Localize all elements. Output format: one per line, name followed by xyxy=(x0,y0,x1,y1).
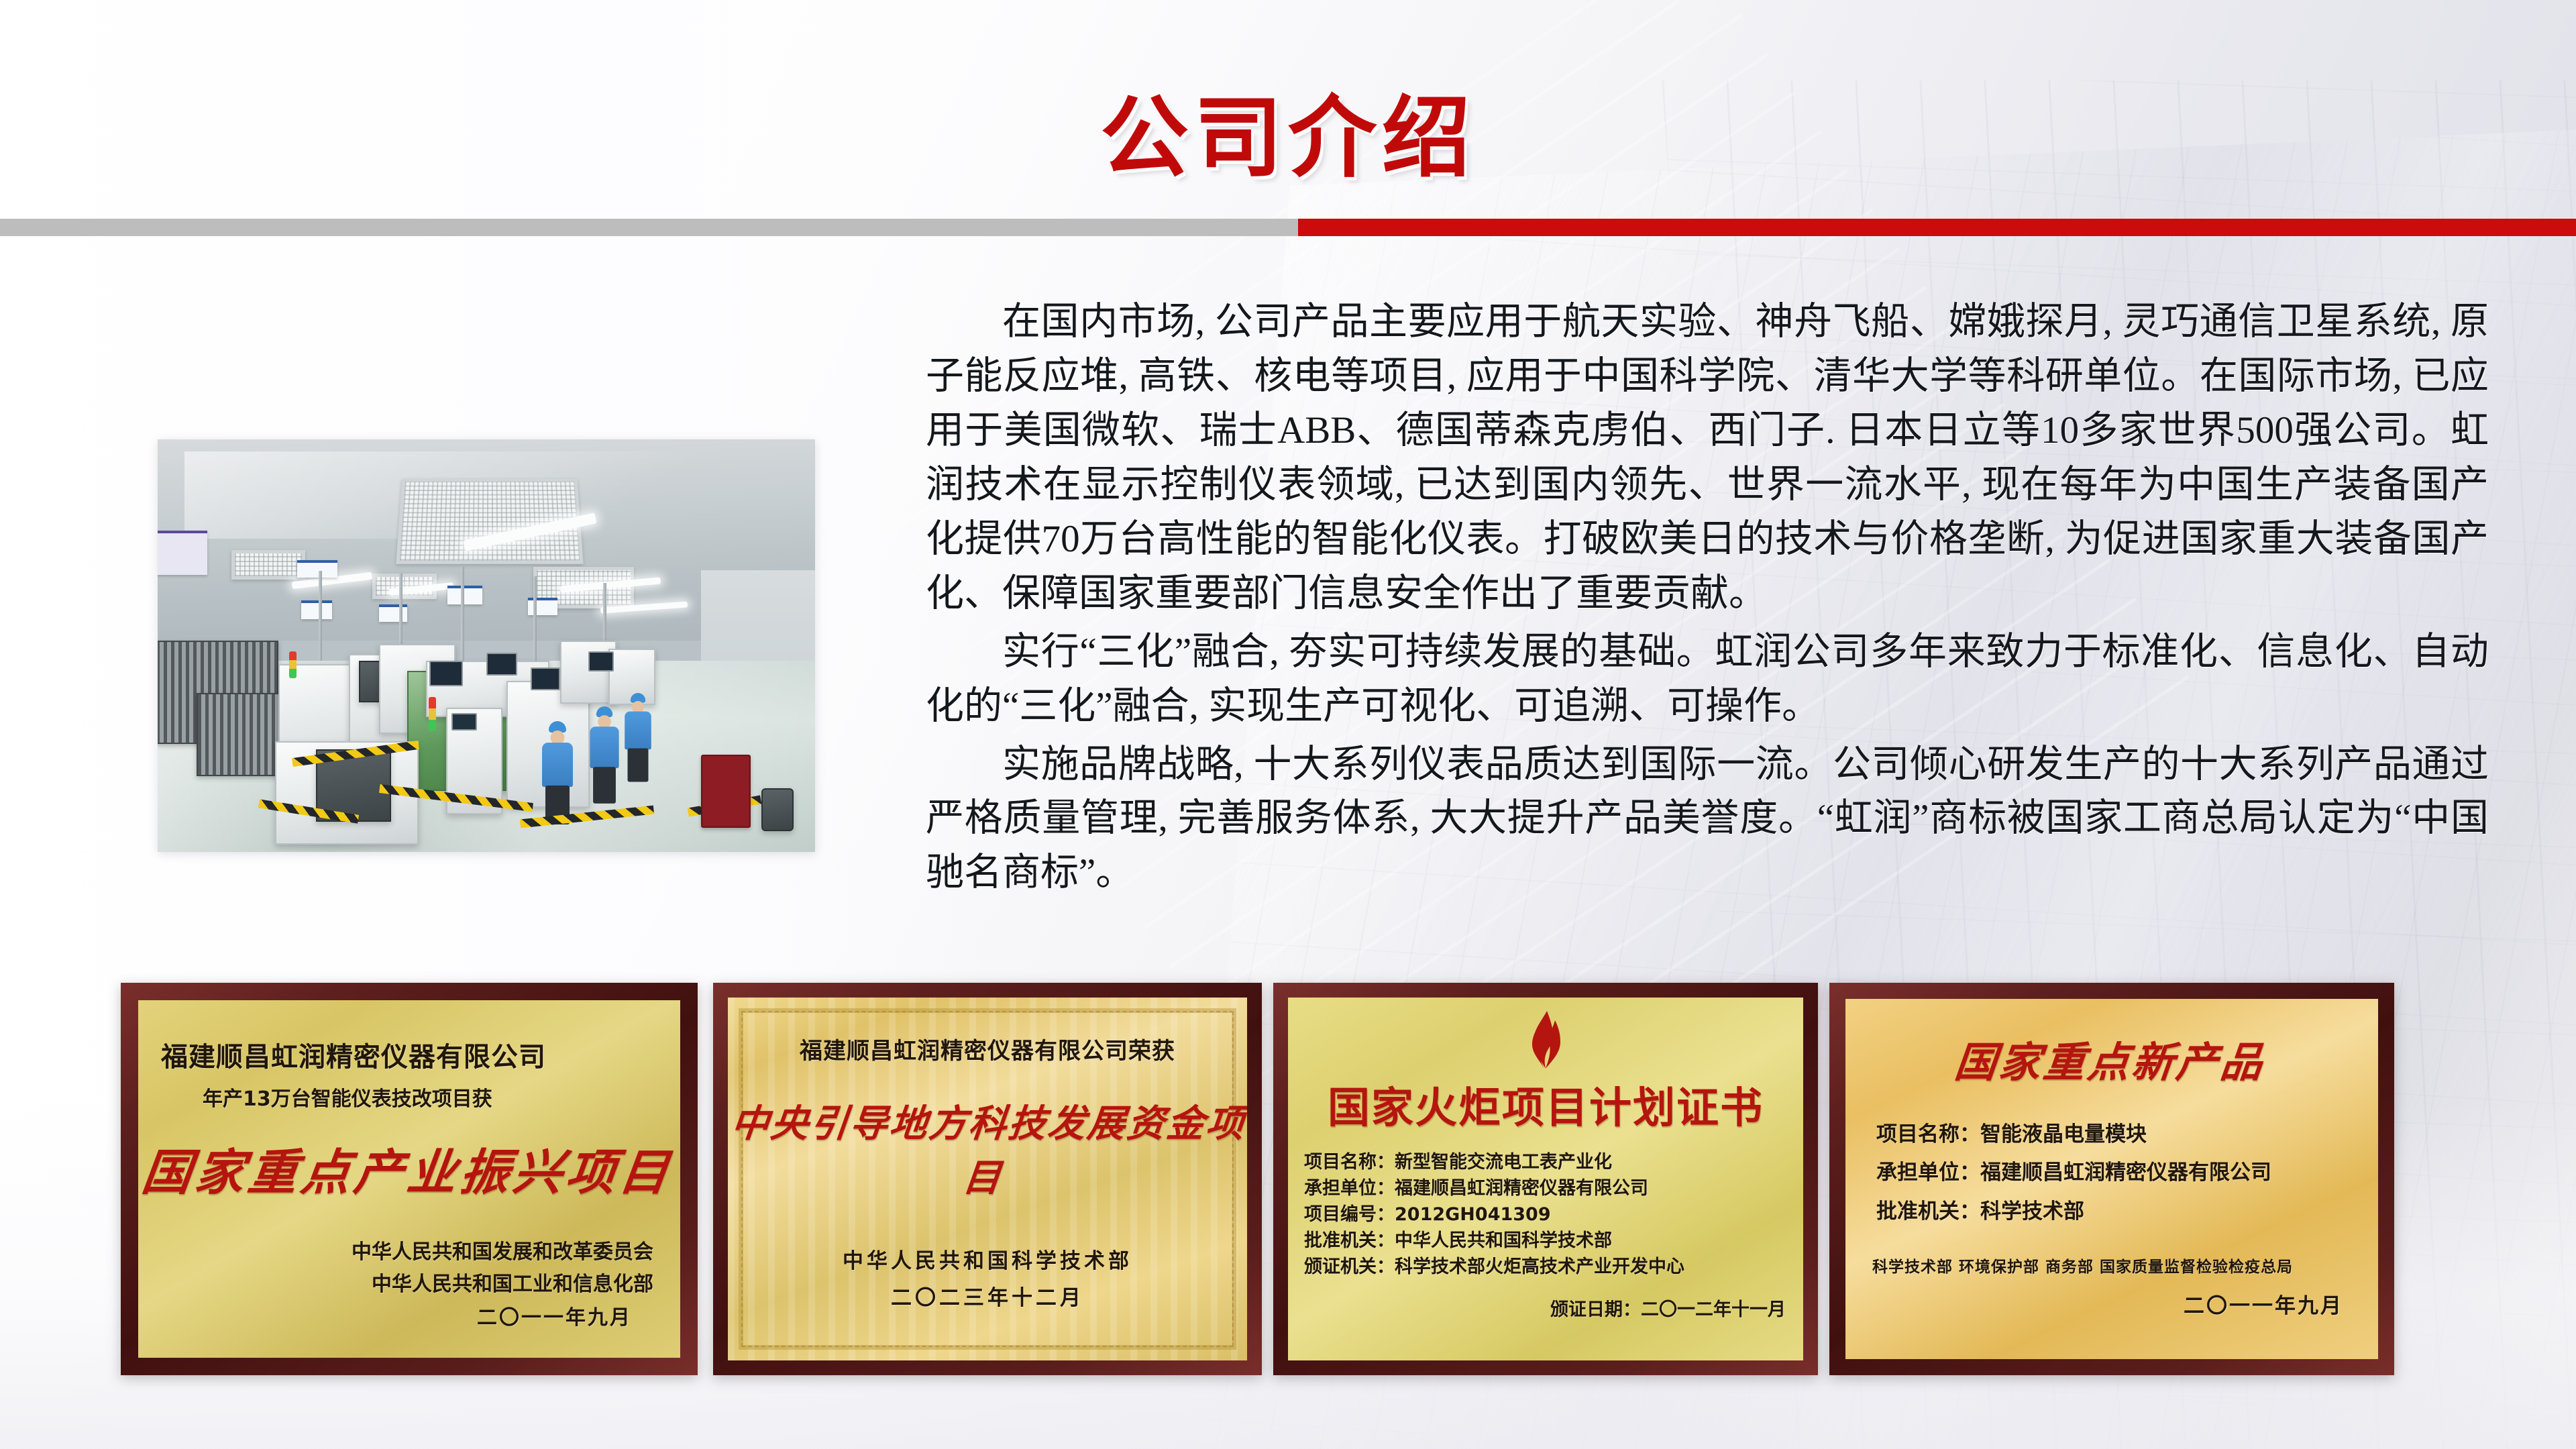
photo-line-sign xyxy=(158,531,207,575)
plaque4-date: 二〇一一年九月 xyxy=(1845,1277,2378,1319)
torch-flame-icon xyxy=(1513,1010,1578,1071)
plaque3-row: 承担单位：福建顺昌虹润精密仪器有限公司 xyxy=(1304,1176,1803,1202)
plaque3-row-label: 颁证机关： xyxy=(1304,1256,1395,1277)
plaque3-date: 二〇一二年十一月 xyxy=(1641,1299,1786,1320)
plaque3-row-value: 2012GH041309 xyxy=(1395,1204,1551,1225)
plaque4-row-label: 承担单位： xyxy=(1876,1161,1980,1185)
plaque4-row-value: 科学技术部 xyxy=(1980,1199,2084,1224)
plaque3-row-label: 承担单位： xyxy=(1304,1178,1395,1199)
plaque4-row: 承担单位：福建顺昌虹润精密仪器有限公司 xyxy=(1876,1154,2378,1192)
intro-paragraph-2: 实行“三化”融合, 夯实可持续发展的基础。虹润公司多年来致力于标准化、信息化、自… xyxy=(926,625,2489,734)
plaque1-issuer-1: 中华人民共和国发展和改革委员会 xyxy=(138,1204,680,1265)
plaque1-headline: 国家重点产业振兴项目 xyxy=(138,1112,680,1204)
plaque3-row-value: 新型智能交流电工表产业化 xyxy=(1395,1152,1612,1173)
company-intro-text: 在国内市场, 公司产品主要应用于航天实验、神舟飞船、嫦娥探月, 灵巧通信卫星系统… xyxy=(926,295,2489,904)
plaque2-headline: 中央引导地方科技发展资金项目 xyxy=(728,1065,1247,1202)
plaque4-row: 批准机关：科学技术部 xyxy=(1876,1193,2378,1231)
photo-andon-light xyxy=(289,651,297,678)
plaque4-row-value: 福建顺昌虹润精密仪器有限公司 xyxy=(1980,1161,2271,1185)
divider-gray-segment xyxy=(0,219,1298,236)
plaque3-row: 项目编号：2012GH041309 xyxy=(1304,1202,1803,1228)
plaque3-row-value: 科学技术部火炬高技术产业开发中心 xyxy=(1395,1256,1684,1277)
plaque-face: 国家重点新产品 项目名称：智能液晶电量模块 承担单位：福建顺昌虹润精密仪器有限公… xyxy=(1845,999,2378,1359)
plaque3-rows: 项目名称：新型智能交流电工表产业化 承担单位：福建顺昌虹润精密仪器有限公司 项目… xyxy=(1288,1135,1803,1280)
header-divider xyxy=(0,219,2576,236)
photo-line-sign xyxy=(447,586,482,604)
factory-cleanroom-photo xyxy=(158,439,815,852)
plaque2-issuer: 中华人民共和国科学技术部 xyxy=(728,1202,1247,1274)
photo-hepa-filter xyxy=(231,550,305,580)
plaque4-row-label: 批准机关： xyxy=(1876,1199,1980,1224)
plaque-face: 国家火炬项目计划证书 项目名称：新型智能交流电工表产业化 承担单位：福建顺昌虹润… xyxy=(1288,998,1803,1360)
plaque1-issuer-2: 中华人民共和国工业和信息化部 xyxy=(138,1265,680,1297)
intro-paragraph-3: 实施品牌战略, 十大系列仪表品质达到国际一流。公司倾心研发生产的十大系列产品通过… xyxy=(926,738,2489,901)
plaque3-date-label: 颁证日期： xyxy=(1550,1299,1641,1320)
divider-red-segment xyxy=(1298,219,2576,236)
photo-line-sign xyxy=(301,600,332,619)
photo-hmi-screen xyxy=(531,667,560,690)
photo-line-sign xyxy=(379,604,407,622)
plaque-face: 福建顺昌虹润精密仪器有限公司 年产13万台智能仪表技改项目获 国家重点产业振兴项… xyxy=(138,1000,680,1358)
plaque3-row-label: 项目名称： xyxy=(1304,1152,1395,1173)
plaque1-subtitle: 年产13万台智能仪表技改项目获 xyxy=(138,1074,680,1112)
photo-info-stand xyxy=(701,755,751,828)
plaque-face: 福建顺昌虹润精密仪器有限公司荣获 中央引导地方科技发展资金项目 中华人民共和国科… xyxy=(728,998,1247,1360)
plaque2-company: 福建顺昌虹润精密仪器有限公司荣获 xyxy=(728,998,1247,1065)
plaque3-row-label: 项目编号： xyxy=(1304,1204,1395,1225)
photo-hmi-screen xyxy=(451,713,477,731)
intro-paragraph-1: 在国内市场, 公司产品主要应用于航天实验、神舟飞船、嫦娥探月, 灵巧通信卫星系统… xyxy=(926,295,2489,621)
plaque3-row: 批准机关：中华人民共和国科学技术部 xyxy=(1304,1228,1803,1254)
plaque3-date-line: 颁证日期：二〇一二年十一月 xyxy=(1288,1280,1803,1321)
photo-line-sign xyxy=(528,598,557,615)
plaque3-row-label: 批准机关： xyxy=(1304,1230,1395,1251)
plaque3-row-value: 福建顺昌虹润精密仪器有限公司 xyxy=(1395,1178,1648,1199)
slide-header: 公司介绍 xyxy=(0,0,2576,221)
plaque3-row: 颁证机关：科学技术部火炬高技术产业开发中心 xyxy=(1304,1254,1803,1281)
photo-hmi-screen xyxy=(588,651,614,672)
award-plaque-national-key-industry-revitalization[interactable]: 福建顺昌虹润精密仪器有限公司 年产13万台智能仪表技改项目获 国家重点产业振兴项… xyxy=(121,983,698,1375)
plaque4-rows: 项目名称：智能液晶电量模块 承担单位：福建顺昌虹润精密仪器有限公司 批准机关：科… xyxy=(1845,1089,2378,1231)
award-plaque-central-guided-local-sci-tech-fund[interactable]: 福建顺昌虹润精密仪器有限公司荣获 中央引导地方科技发展资金项目 中华人民共和国科… xyxy=(713,983,1262,1375)
photo-line-sign xyxy=(297,560,337,578)
plaque4-row-value: 智能液晶电量模块 xyxy=(1980,1122,2147,1146)
plaque1-date: 二〇一一年九月 xyxy=(138,1297,680,1330)
plaque4-row-label: 项目名称： xyxy=(1876,1122,1980,1146)
photo-stool xyxy=(761,788,794,831)
photo-magazine-rack xyxy=(197,693,286,776)
plaque3-row-value: 中华人民共和国科学技术部 xyxy=(1395,1230,1612,1251)
award-plaque-national-key-new-product[interactable]: 国家重点新产品 项目名称：智能液晶电量模块 承担单位：福建顺昌虹润精密仪器有限公… xyxy=(1829,983,2394,1375)
plaque3-row: 项目名称：新型智能交流电工表产业化 xyxy=(1304,1150,1803,1176)
photo-hmi-screen xyxy=(429,661,463,686)
photo-andon-light xyxy=(429,697,436,732)
slide-root: 公司介绍 xyxy=(0,0,2576,1449)
plaque2-date: 二〇二三年十二月 xyxy=(728,1274,1247,1311)
photo-hmi-screen xyxy=(486,653,517,676)
plaque3-headline: 国家火炬项目计划证书 xyxy=(1288,1071,1803,1135)
plaque4-row: 项目名称：智能液晶电量模块 xyxy=(1876,1116,2378,1154)
award-plaque-national-torch-program-certificate[interactable]: 国家火炬项目计划证书 项目名称：新型智能交流电工表产业化 承担单位：福建顺昌虹润… xyxy=(1273,983,1818,1375)
plaque4-headline: 国家重点新产品 xyxy=(1845,999,2378,1089)
award-plaques-row: 福建顺昌虹润精密仪器有限公司 年产13万台智能仪表技改项目获 国家重点产业振兴项… xyxy=(0,983,2576,1385)
torch-emblem-wrap xyxy=(1288,1010,1803,1071)
page-title: 公司介绍 xyxy=(0,94,2576,182)
plaque1-company: 福建顺昌虹润精密仪器有限公司 xyxy=(138,1000,680,1074)
plaque4-issuers: 科学技术部 环境保护部 商务部 国家质量监督检验检疫总局 xyxy=(1845,1231,2378,1277)
